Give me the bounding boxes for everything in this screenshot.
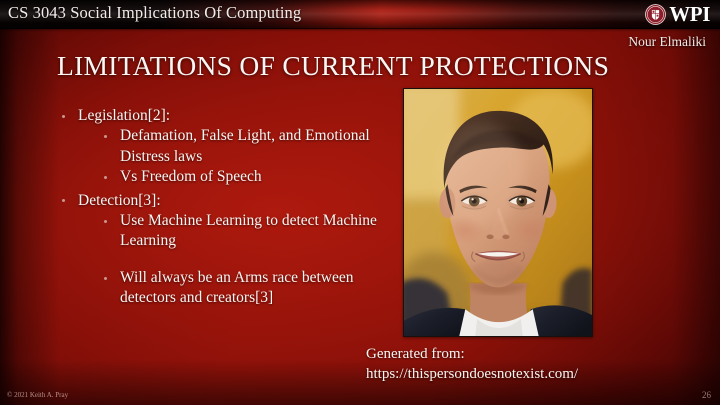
bullet-dot-icon (62, 115, 65, 118)
bullet-level2: Will always be an Arms race between dete… (56, 268, 386, 309)
caption-line-1: Generated from: (366, 345, 714, 365)
wpi-wordmark: WPI (669, 4, 710, 25)
bullet-level2: Use Machine Learning to detect Machine L… (56, 211, 386, 252)
bullet-text: Defamation, False Light, and Emotional D… (120, 127, 370, 165)
wpi-seal-shield-icon (645, 4, 666, 25)
bullet-group: Detection[3]: Use Machine Learning to de… (56, 190, 386, 309)
bullet-dot-icon (104, 277, 107, 280)
image-caption: Generated from: https://thispersondoesno… (366, 345, 714, 384)
slide-title: LIMITATIONS OF CURRENT PROTECTIONS (57, 50, 609, 81)
presentation-slide: CS 3043 Social Implications Of Computing… (0, 0, 720, 405)
copyright-notice: © 2021 Keith A. Pray (7, 391, 68, 400)
bullet-level1: Detection[3]: (56, 190, 386, 211)
caption-line-2: https://thispersondoesnotexist.com/ (366, 365, 714, 385)
bullet-text: Detection[3]: (78, 192, 161, 209)
portrait-image (403, 88, 593, 337)
bullet-text: Will always be an Arms race between dete… (120, 269, 354, 307)
bullet-text: Vs Freedom of Speech (120, 168, 262, 185)
bullet-dot-icon (104, 135, 107, 138)
wpi-logo: WPI (645, 2, 710, 27)
slide-body: Legislation[2]: Defamation, False Light,… (56, 105, 386, 309)
bullet-dot-icon (104, 176, 107, 179)
bullet-text: Legislation[2]: (78, 107, 170, 124)
author-name: Nour Elmaliki (628, 34, 706, 50)
bullet-level2: Defamation, False Light, and Emotional D… (56, 126, 386, 167)
page-number: 26 (702, 390, 711, 401)
bullet-group: Legislation[2]: Defamation, False Light,… (56, 105, 386, 188)
course-title: CS 3043 Social Implications Of Computing (8, 3, 301, 23)
bullet-level1: Legislation[2]: (56, 105, 386, 126)
ai-generated-face-graphic (404, 89, 592, 336)
bullet-dot-icon (104, 220, 107, 223)
bullet-level2: Vs Freedom of Speech (56, 167, 386, 188)
bullet-dot-icon (62, 199, 65, 202)
bullet-text: Use Machine Learning to detect Machine L… (120, 212, 377, 250)
